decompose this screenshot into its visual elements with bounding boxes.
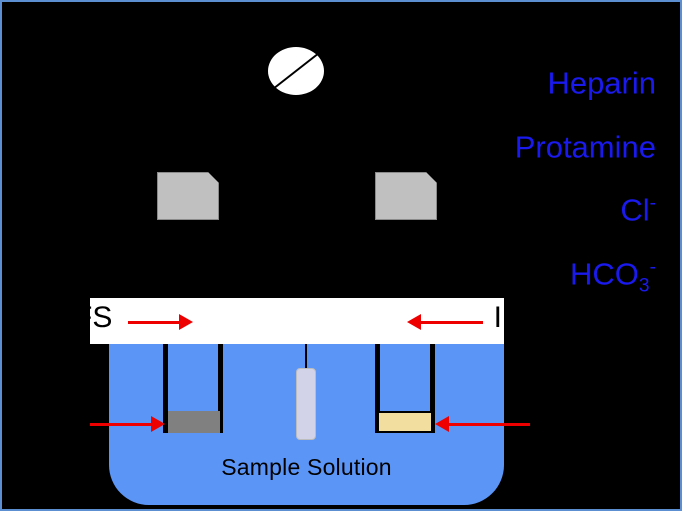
reference-electrode-body xyxy=(296,368,316,440)
arrow-band-left xyxy=(128,321,180,324)
species-item-1: Protamine xyxy=(515,118,656,182)
species-item-2: Cl- xyxy=(515,181,656,245)
species-sup-3: - xyxy=(650,257,656,278)
wire-meter-to-right-amplifier xyxy=(322,84,445,143)
species-text-0: Heparin xyxy=(547,65,656,100)
galvanometer-needle-icon xyxy=(273,52,320,89)
band-label-right: IP xyxy=(494,301,504,335)
arrowhead-right-icon xyxy=(151,416,165,432)
figure-canvas: FS IP Sample Solution Heparin Protamine … xyxy=(0,0,682,511)
wire-meter-to-left-amplifier xyxy=(147,84,270,143)
arrow-membrane-right xyxy=(448,423,530,426)
species-text-3: HCO xyxy=(570,256,639,291)
species-list: Heparin Protamine Cl- HCO3- xyxy=(515,54,656,308)
amplifier-right xyxy=(375,172,437,220)
species-sup-2: - xyxy=(650,193,656,214)
wire-left-amplifier-to-electrode xyxy=(187,221,189,301)
arrowhead-left-icon xyxy=(435,416,449,432)
species-text-1: Protamine xyxy=(515,129,656,164)
membrane-left xyxy=(168,411,220,433)
arrow-band-right xyxy=(420,321,483,324)
arrow-membrane-left xyxy=(90,423,152,426)
membrane-right xyxy=(377,411,433,433)
species-text-2: Cl xyxy=(620,192,649,227)
sample-solution-label: Sample Solution xyxy=(109,454,504,481)
species-sub-3: 3 xyxy=(639,275,650,296)
species-item-3: HCO3- xyxy=(515,245,656,309)
arrowhead-right-icon xyxy=(179,314,193,330)
wire-right-amplifier-to-electrode xyxy=(405,221,407,301)
galvanometer-icon xyxy=(268,47,324,95)
arrowhead-left-icon xyxy=(407,314,421,330)
species-item-0: Heparin xyxy=(515,54,656,118)
amplifier-left xyxy=(157,172,219,220)
band-label-left: FS xyxy=(90,301,112,335)
